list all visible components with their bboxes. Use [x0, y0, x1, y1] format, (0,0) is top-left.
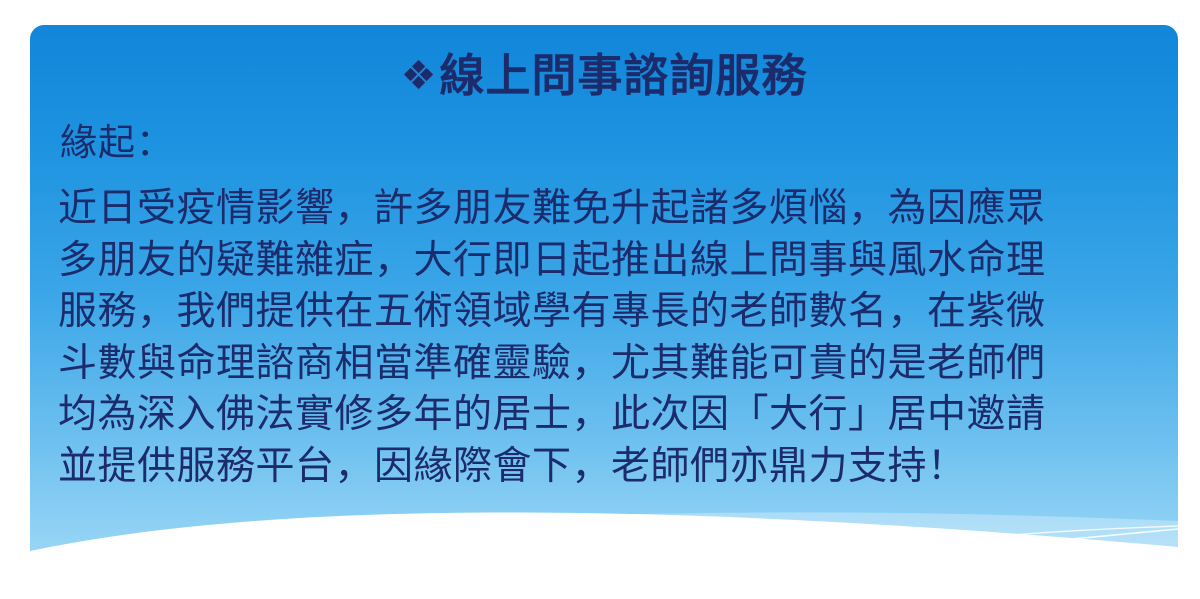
body-line: 多朋友的疑難雜症，大行即日起推出線上問事與風水命理: [58, 235, 1154, 287]
body-line: 斗數與命理諮商相當準確靈驗，尤其難能可貴的是老師們: [58, 338, 1154, 390]
lede-label: 緣起：: [60, 122, 174, 165]
body-paragraph: 近日受疫情影響，許多朋友難免升起諸多煩惱，為因應眾 多朋友的疑難雜症，大行即日起…: [58, 183, 1154, 492]
slide-title: ❖線上問事諮詢服務: [30, 51, 1178, 101]
slide-content: ❖線上問事諮詢服務 緣起： 近日受疫情影響，許多朋友難免升起諸多煩惱，為因應眾 …: [30, 25, 1178, 585]
diamond-cluster-bullet-icon: ❖: [401, 53, 438, 99]
body-line: 近日受疫情影響，許多朋友難免升起諸多煩惱，為因應眾: [58, 183, 1154, 235]
slide-canvas: ❖線上問事諮詢服務 緣起： 近日受疫情影響，許多朋友難免升起諸多煩惱，為因應眾 …: [0, 0, 1200, 599]
body-line: 並提供服務平台，因緣際會下，老師們亦鼎力支持！: [58, 441, 1154, 493]
body-line: 服務，我們提供在五術領域學有專長的老師數名，在紫微: [58, 286, 1154, 338]
slide-title-text: 線上問事諮詢服務: [439, 49, 807, 102]
body-line: 均為深入佛法實修多年的居士，此次因「大行」居中邀請: [58, 389, 1154, 441]
